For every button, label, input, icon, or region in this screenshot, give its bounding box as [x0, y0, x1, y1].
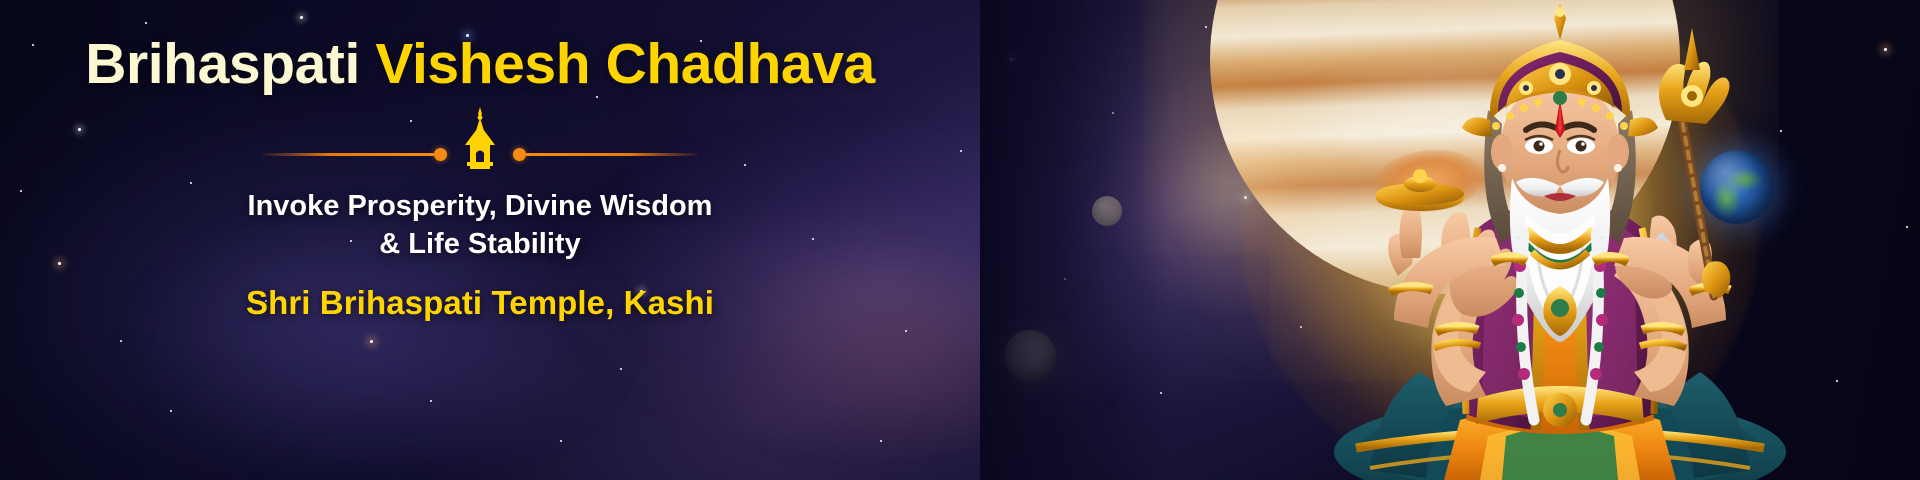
subtitle: Invoke Prosperity, Divine Wisdom & Life …	[248, 188, 713, 262]
ornamental-divider	[256, 106, 704, 170]
title-part-accent: Vishesh Chadhava	[375, 32, 874, 96]
temple-icon	[458, 107, 502, 174]
subtitle-line-2: & Life Stability	[248, 226, 713, 263]
artwork-panel	[980, 0, 1920, 480]
divider-line-right	[526, 153, 698, 156]
text-content-column: Brihaspati Vishesh Chadhava	[0, 0, 960, 480]
artwork-left-fade	[980, 0, 1170, 480]
brihaspati-deity	[1310, 0, 1810, 480]
divider-dot-right	[513, 148, 526, 161]
divider-line-left	[262, 153, 434, 156]
title-part-primary: Brihaspati	[85, 32, 360, 96]
page-title: Brihaspati Vishesh Chadhava	[85, 34, 875, 94]
divider-dot-left	[434, 148, 447, 161]
subtitle-line-1: Invoke Prosperity, Divine Wisdom	[248, 188, 713, 225]
venue-name: Shri Brihaspati Temple, Kashi	[246, 284, 714, 322]
brihaspati-promo-banner: Brihaspati Vishesh Chadhava	[0, 0, 1920, 480]
